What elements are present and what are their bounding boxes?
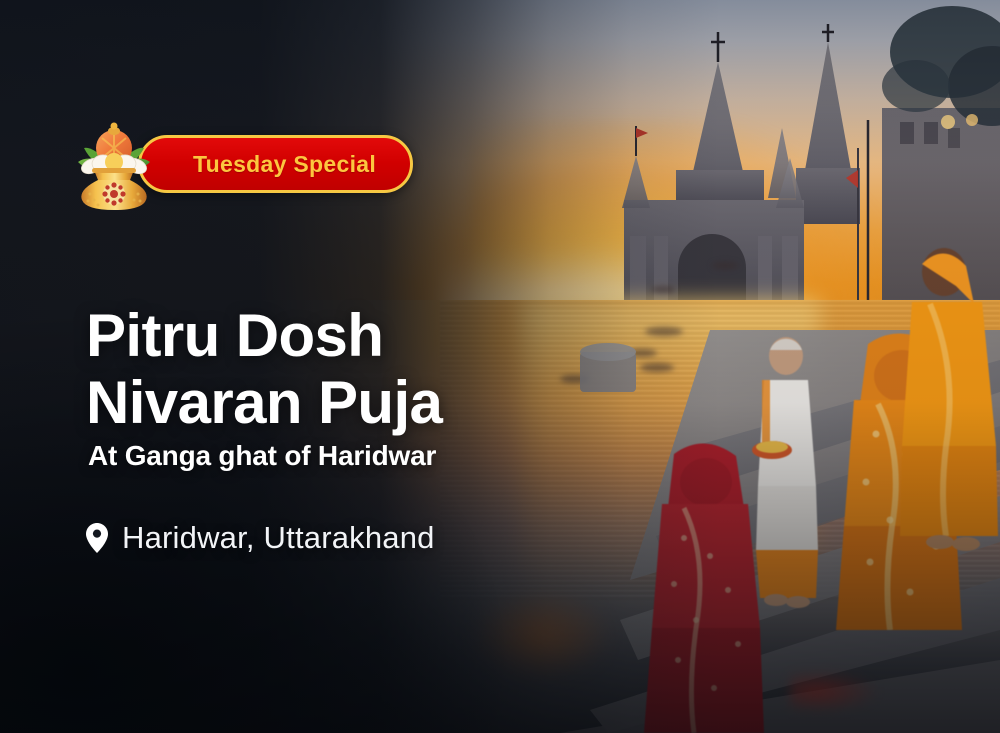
headline-line-1: Pitru Dosh (86, 302, 383, 369)
kalash-icon (72, 118, 156, 210)
badge-pill[interactable]: Tuesday Special (138, 135, 413, 193)
special-badge[interactable]: Tuesday Special (72, 118, 413, 210)
location-label: Haridwar, Uttarakhand (122, 520, 435, 556)
location-row: Haridwar, Uttarakhand (86, 520, 435, 556)
map-pin-icon (86, 523, 108, 553)
subtitle: At Ganga ghat of Haridwar (88, 440, 436, 472)
badge-label: Tuesday Special (193, 151, 376, 178)
page-title: Pitru Dosh Nivaran Puja (86, 302, 442, 436)
headline-line-2: Nivaran Puja (86, 369, 442, 436)
promo-banner: Tuesday Special Pitru Dosh Nivaran Puja … (0, 0, 1000, 733)
banner-content: Tuesday Special Pitru Dosh Nivaran Puja … (0, 0, 1000, 733)
